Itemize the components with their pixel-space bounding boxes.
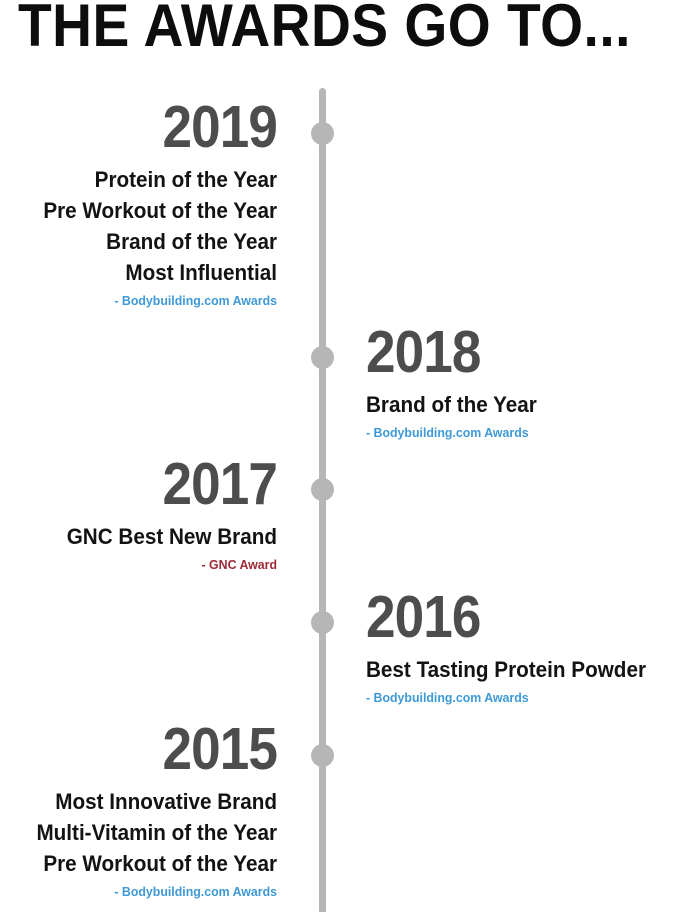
milestone-year-label: 2015 bbox=[7, 719, 277, 779]
award-line: Brand of the Year bbox=[0, 226, 277, 257]
milestone-year-label: 2016 bbox=[366, 587, 636, 647]
award-line: Multi-Vitamin of the Year bbox=[0, 817, 277, 848]
award-line: Pre Workout of the Year bbox=[0, 848, 277, 879]
timeline-dot-2019 bbox=[311, 122, 334, 145]
milestone-year-label: 2018 bbox=[366, 322, 636, 382]
milestone-year-label: 2017 bbox=[7, 454, 277, 514]
award-line: Best Tasting Protein Powder bbox=[366, 654, 648, 685]
award-source-attribution: - Bodybuilding.com Awards bbox=[366, 689, 651, 707]
milestone-2018: 2018Brand of the Year- Bodybuilding.com … bbox=[366, 322, 666, 442]
timeline-dot-2018 bbox=[311, 346, 334, 369]
award-source-attribution: - Bodybuilding.com Awards bbox=[0, 292, 277, 310]
milestone-2016: 2016Best Tasting Protein Powder- Bodybui… bbox=[366, 587, 666, 707]
timeline-dot-2015 bbox=[311, 744, 334, 767]
award-line: Protein of the Year bbox=[0, 164, 277, 195]
award-line: Most Influential bbox=[0, 257, 277, 288]
timeline-dot-2017 bbox=[311, 478, 334, 501]
award-line: Pre Workout of the Year bbox=[0, 195, 277, 226]
award-list: Best Tasting Protein Powder bbox=[366, 654, 666, 685]
award-list: Protein of the YearPre Workout of the Ye… bbox=[0, 164, 277, 288]
award-source-attribution: - GNC Award bbox=[0, 556, 277, 574]
page-title: THE AWARDS GO TO... bbox=[18, 0, 631, 56]
timeline-dot-2016 bbox=[311, 611, 334, 634]
award-list: GNC Best New Brand bbox=[0, 521, 277, 552]
milestone-2017: 2017GNC Best New Brand- GNC Award bbox=[0, 454, 277, 574]
milestone-2019: 2019Protein of the YearPre Workout of th… bbox=[0, 97, 277, 310]
award-line: Most Innovative Brand bbox=[0, 786, 277, 817]
award-source-attribution: - Bodybuilding.com Awards bbox=[366, 424, 651, 442]
award-source-attribution: - Bodybuilding.com Awards bbox=[0, 883, 277, 901]
milestone-year-label: 2019 bbox=[7, 97, 277, 157]
award-list: Most Innovative BrandMulti-Vitamin of th… bbox=[0, 786, 277, 879]
award-list: Brand of the Year bbox=[366, 389, 666, 420]
milestone-2015: 2015Most Innovative BrandMulti-Vitamin o… bbox=[0, 719, 277, 901]
award-line: GNC Best New Brand bbox=[0, 521, 277, 552]
award-line: Brand of the Year bbox=[366, 389, 648, 420]
